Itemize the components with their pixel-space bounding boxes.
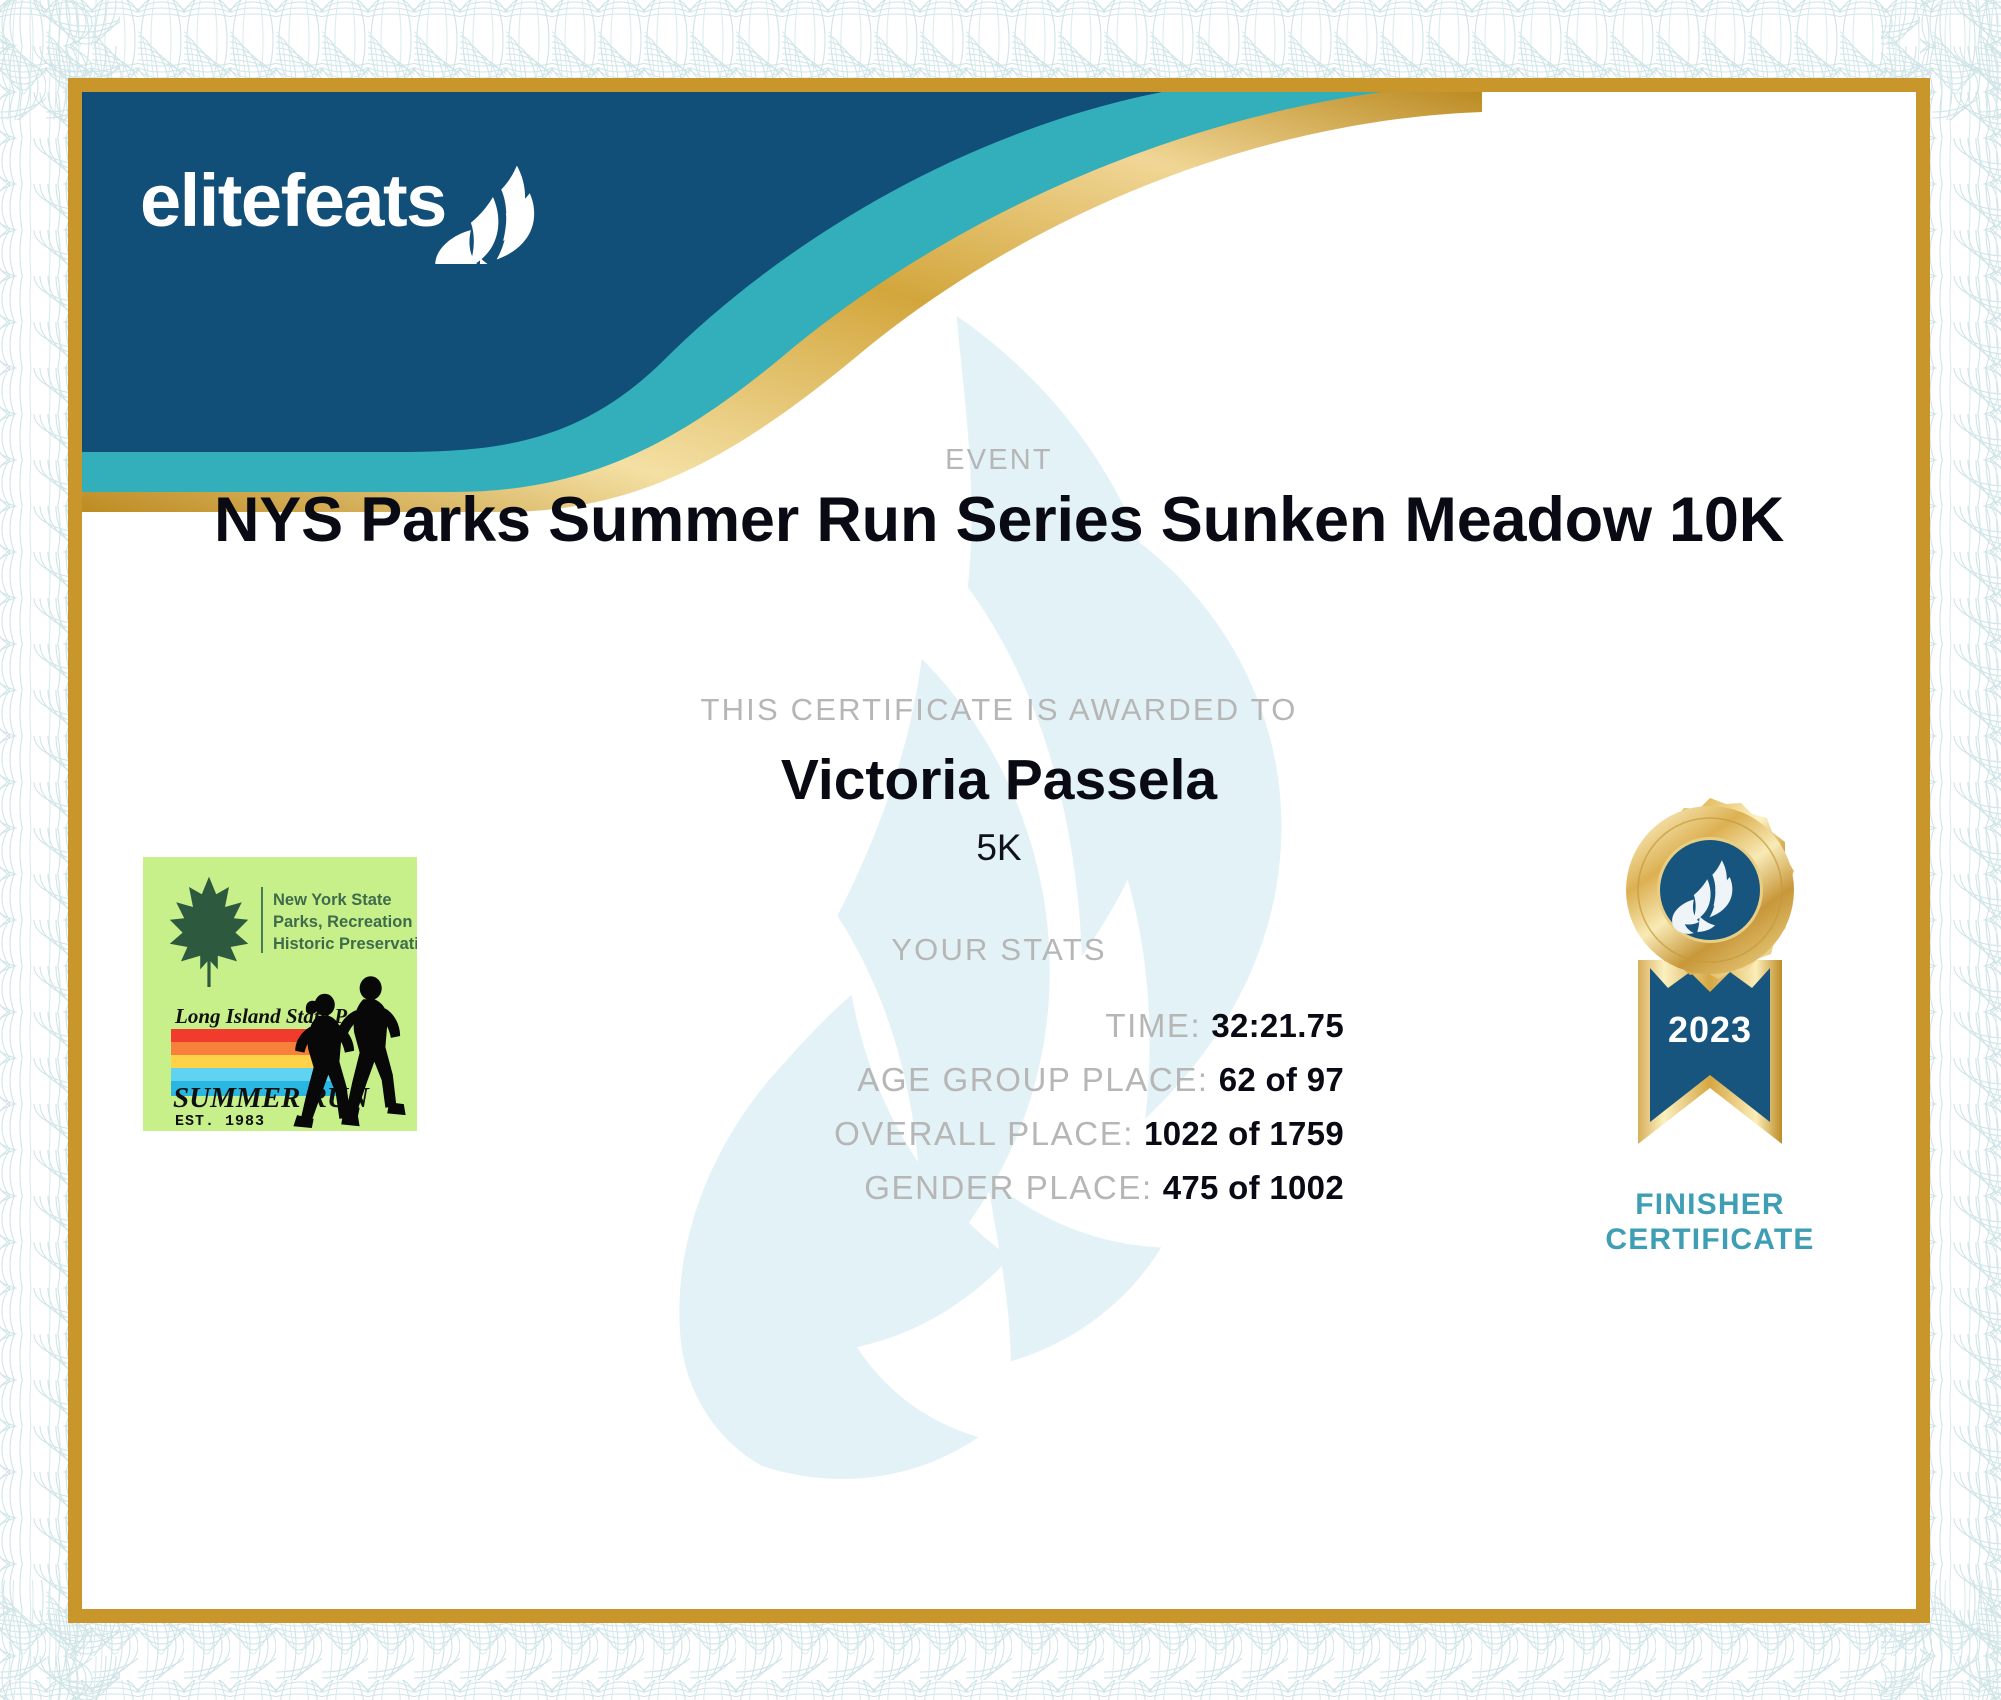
event-title: NYS Parks Summer Run Series Sunken Meado… <box>82 484 1916 556</box>
established-year: EST. 1983 <box>175 1113 265 1130</box>
svg-text:elitefeats: elitefeats <box>140 159 446 242</box>
stat-key: GENDER PLACE: <box>864 1169 1153 1207</box>
agency-line-3: Historic Preservation <box>273 935 417 953</box>
medal-badge <box>1626 798 1794 979</box>
sponsor-logo: New York State Parks, Recreation and His… <box>143 857 417 1131</box>
stat-key: AGE GROUP PLACE: <box>857 1061 1208 1099</box>
event-label: EVENT <box>82 444 1916 477</box>
medal-ribbon: 2023 <box>1638 960 1782 1144</box>
stat-value: 62 of 97 <box>1219 1061 1344 1099</box>
stat-row: GENDER PLACE: 475 of 1002 <box>82 1169 1344 1223</box>
agency-line-1: New York State <box>273 891 392 909</box>
stat-value: 1022 of 1759 <box>1144 1115 1344 1153</box>
elitefeats-logo: elitefeats <box>140 154 570 264</box>
finisher-caption: FINISHER CERTIFICATE <box>1560 1187 1860 1258</box>
finisher-caption-line-2: CERTIFICATE <box>1560 1222 1860 1257</box>
stat-value: 475 of 1002 <box>1163 1169 1344 1207</box>
finisher-medal: 2023 <box>1560 792 1860 1272</box>
agency-line-2: Parks, Recreation and <box>273 913 417 931</box>
stat-value: 32:21.75 <box>1211 1007 1344 1045</box>
stat-key: OVERALL PLACE: <box>834 1115 1134 1153</box>
finisher-caption-line-1: FINISHER <box>1560 1187 1860 1222</box>
certificate-frame: elitefeats EVENT NYS Parks Summer Run Se… <box>68 78 1930 1623</box>
medal-year: 2023 <box>1668 1009 1752 1050</box>
awarded-to-label: THIS CERTIFICATE IS AWARDED TO <box>82 692 1916 728</box>
certificate-page: elitefeats EVENT NYS Parks Summer Run Se… <box>0 0 2001 1700</box>
stat-key: TIME: <box>1105 1007 1201 1045</box>
